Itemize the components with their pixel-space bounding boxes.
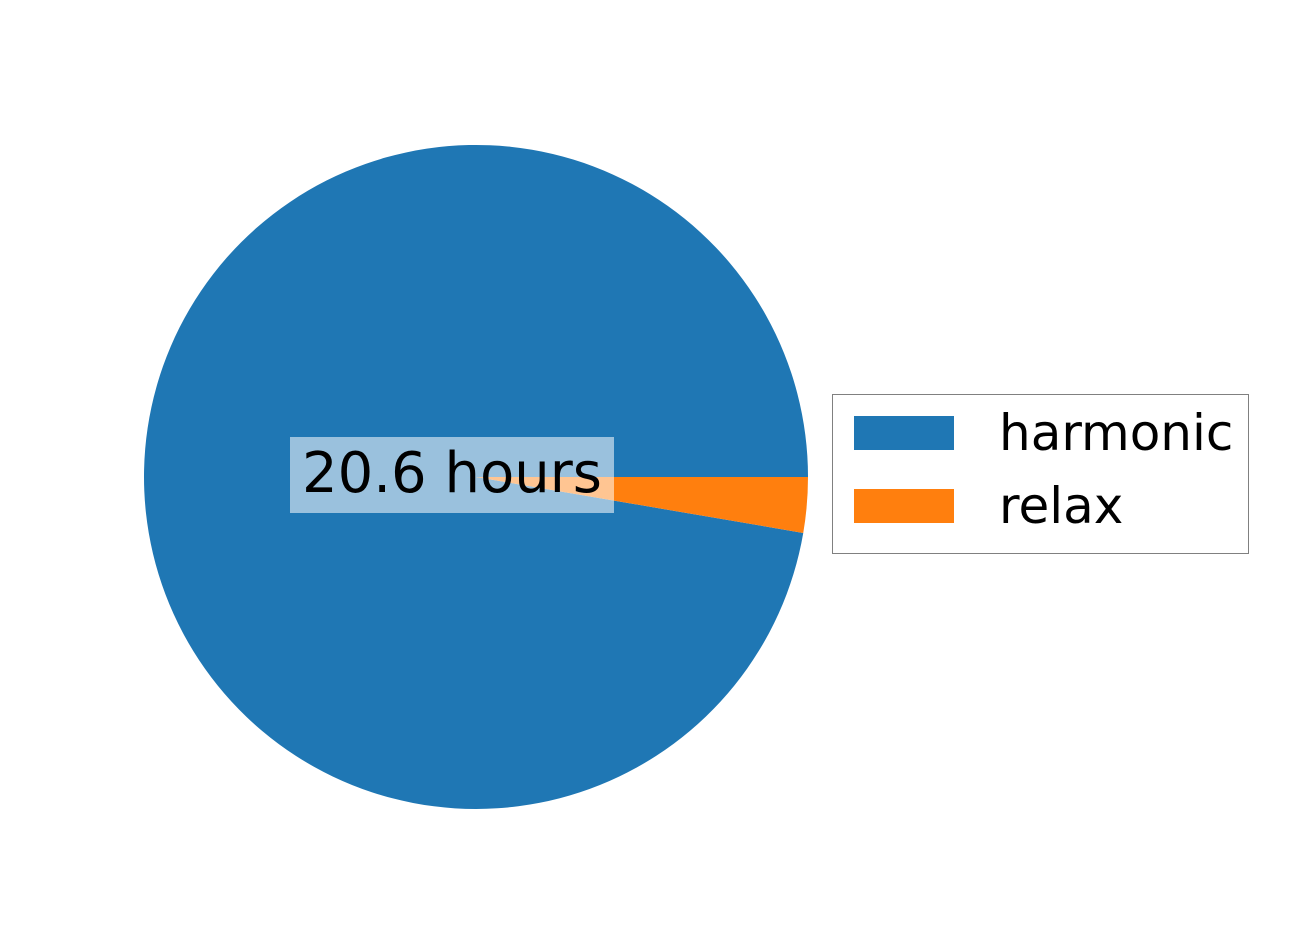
legend-item-relax[interactable]: relax	[854, 483, 1123, 529]
legend-item-harmonic[interactable]: harmonic	[854, 410, 1233, 456]
chart-legend: harmonic relax	[832, 394, 1249, 554]
pie-chart-figure: 20.6 hours harmonic relax	[0, 0, 1307, 951]
pie-slice-label-harmonic: 20.6 hours	[290, 437, 614, 513]
legend-color-swatch-harmonic	[854, 416, 954, 450]
legend-label-harmonic: harmonic	[999, 408, 1233, 458]
legend-color-swatch-relax	[854, 489, 954, 523]
legend-label-relax: relax	[999, 481, 1123, 531]
